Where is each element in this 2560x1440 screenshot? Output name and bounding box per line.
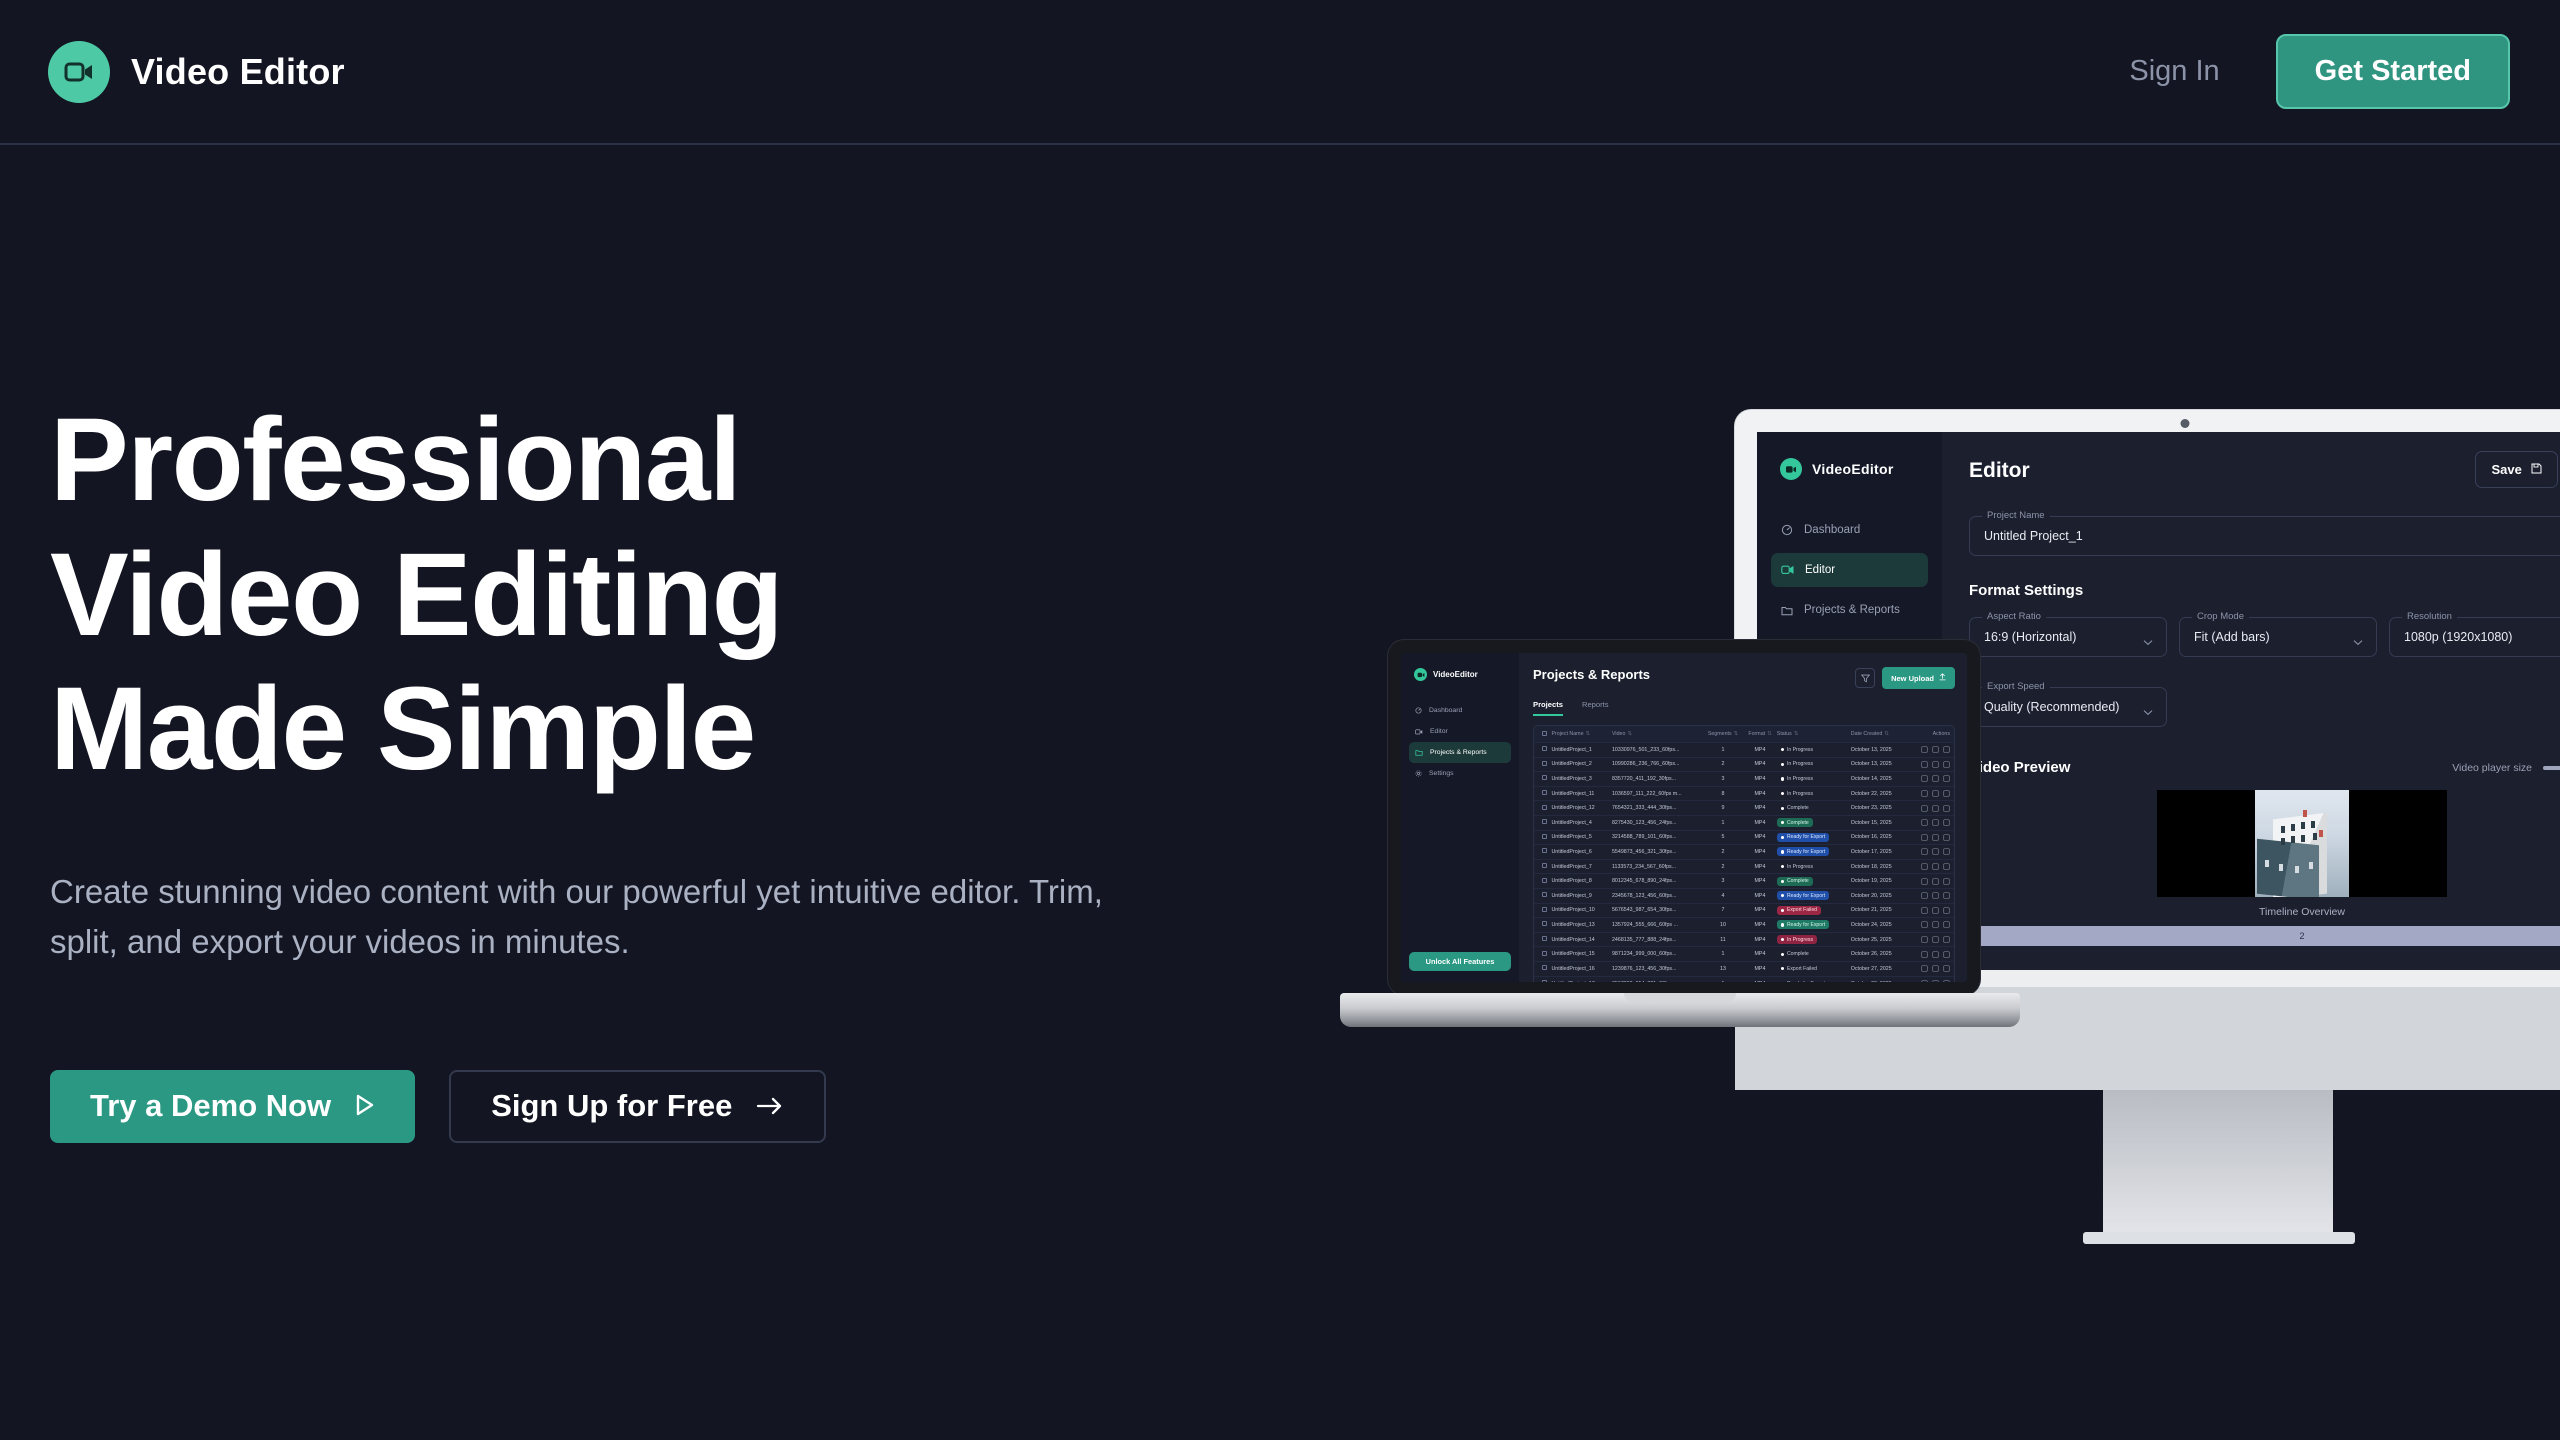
laptop-screen: VideoEditor Dashboard Editor	[1401, 653, 1967, 982]
cell-status: Ready for Export	[1777, 920, 1851, 929]
field-label: Aspect Ratio	[1982, 611, 2046, 622]
projects-logo-name: VideoEditor	[1433, 670, 1478, 679]
delete-icon[interactable]	[1943, 878, 1950, 885]
device-mockups: VideoEditor Dashboard Editor	[1340, 390, 2560, 1240]
download-icon[interactable]	[1932, 907, 1939, 914]
projects-app-logo: VideoEditor	[1409, 668, 1511, 681]
laptop-base-notch	[1624, 993, 1736, 1002]
edit-icon[interactable]	[1921, 878, 1928, 885]
cell-project-name: UntitledProject_3	[1551, 776, 1612, 782]
projects-header: Projects & Reports New Upload	[1533, 667, 1955, 689]
edit-icon[interactable]	[1921, 921, 1928, 928]
edit-icon[interactable]	[1921, 936, 1928, 943]
download-icon[interactable]	[1932, 746, 1939, 753]
cell-video: 3214588_789_101_60fps...	[1612, 834, 1703, 840]
cell-video: 10990286_236_766_60fps...	[1612, 761, 1703, 767]
cell-segments: 8	[1703, 791, 1743, 797]
column-header-format[interactable]: Format⇅	[1743, 731, 1777, 737]
laptop-mockup: VideoEditor Dashboard Editor	[1340, 640, 2020, 1060]
status-label: Complete	[1787, 951, 1809, 957]
format-settings-title: Format Settings	[1969, 582, 2560, 599]
cell-date-created: October 26, 2025	[1851, 951, 1913, 957]
cell-actions	[1913, 936, 1950, 943]
cell-project-name: UntitledProject_10	[1551, 907, 1612, 913]
download-icon[interactable]	[1932, 878, 1939, 885]
sidebar-item-projects-reports[interactable]: Projects & Reports	[1771, 593, 1928, 627]
projects-tabs: Projects Reports	[1533, 700, 1955, 716]
hero-title-line-1: Professional	[50, 394, 740, 526]
delete-icon[interactable]	[1943, 907, 1950, 914]
status-label: Ready for Export	[1787, 849, 1825, 855]
project-name-value: Untitled Project_1	[1984, 529, 2083, 543]
cell-date-created: October 28, 2025	[1851, 981, 1913, 982]
cell-segments: 2	[1703, 864, 1743, 870]
status-label: In Progress	[1787, 776, 1813, 782]
download-icon[interactable]	[1932, 980, 1939, 982]
delete-icon[interactable]	[1943, 848, 1950, 855]
cell-segments: 2	[1703, 761, 1743, 767]
cell-status: Complete	[1777, 950, 1851, 959]
edit-icon[interactable]	[1921, 980, 1928, 982]
download-icon[interactable]	[1932, 805, 1939, 812]
delete-icon[interactable]	[1943, 951, 1950, 958]
download-icon[interactable]	[1932, 834, 1939, 841]
cell-date-created: October 18, 2025	[1851, 864, 1913, 870]
cell-status: Ready for Export	[1777, 833, 1851, 842]
video-camera-icon	[1780, 458, 1802, 480]
status-label: Ready for Export	[1787, 922, 1825, 928]
row-checkbox[interactable]	[1538, 775, 1551, 782]
cell-status: In Progress	[1777, 774, 1851, 783]
cell-status: In Progress	[1777, 935, 1851, 944]
cell-project-name: UntitledProject_15	[1551, 951, 1612, 957]
cell-project-name: UntitledProject_7	[1551, 864, 1612, 870]
brand-logo[interactable]: Video Editor	[48, 41, 345, 103]
cell-actions	[1913, 980, 1950, 982]
sign-in-link[interactable]: Sign In	[2129, 55, 2219, 88]
cell-video: 1357924_555_666_60fps ...	[1612, 922, 1703, 928]
cell-segments: 3	[1703, 878, 1743, 884]
editor-main: Editor Save Export P	[1942, 432, 2560, 970]
cell-project-name: UntitledProject_13	[1551, 922, 1612, 928]
cell-video: 9871234_999_000_60fps...	[1612, 951, 1703, 957]
cell-status: In Progress	[1777, 760, 1851, 769]
status-badge: In Progress	[1777, 760, 1817, 769]
row-checkbox[interactable]	[1538, 863, 1551, 870]
table-row[interactable]: UntitledProject_127654321_333_444_30fps.…	[1534, 801, 1954, 816]
cell-actions	[1913, 892, 1950, 899]
status-label: Complete	[1787, 805, 1809, 811]
cell-actions	[1913, 790, 1950, 797]
chevron-down-icon	[2143, 703, 2153, 721]
resolution-select[interactable]: Resolution 1080p (1920x1080)	[2389, 617, 2560, 657]
row-checkbox[interactable]	[1538, 936, 1551, 943]
table-row[interactable]: UntitledProject_92345678_123_456_60fps..…	[1534, 889, 1954, 904]
cell-format: MP4	[1743, 849, 1777, 855]
cell-video: 7654321_333_444_30fps...	[1612, 805, 1703, 811]
cell-video: 5676543_987_654_30fps...	[1612, 907, 1703, 913]
hero-subtitle: Create stunning video content with our p…	[50, 867, 1140, 967]
table-row[interactable]: UntitledProject_173567890_654_321_60fps.…	[1534, 977, 1954, 983]
cell-segments: 4	[1703, 893, 1743, 899]
sort-icon: ⇅	[1586, 731, 1590, 737]
new-upload-label: New Upload	[1891, 674, 1934, 683]
delete-icon[interactable]	[1943, 863, 1950, 870]
delete-icon[interactable]	[1943, 805, 1950, 812]
cell-project-name: UntitledProject_4	[1551, 820, 1612, 826]
table-row[interactable]: UntitledProject_65549873_456_321_30fps..…	[1534, 845, 1954, 860]
video-camera-icon	[48, 41, 110, 103]
projects-sidebar: VideoEditor Dashboard Editor	[1401, 653, 1519, 982]
status-badge: Export Failed	[1777, 906, 1821, 915]
delete-icon[interactable]	[1943, 761, 1950, 768]
status-label: Ready for Export	[1787, 834, 1825, 840]
video-preview-row: Video Preview Video player size	[1969, 759, 2560, 776]
cell-date-created: October 15, 2025	[1851, 820, 1913, 826]
delete-icon[interactable]	[1943, 980, 1950, 982]
cell-video: 2468135_777_888_24fps...	[1612, 937, 1703, 943]
delete-icon[interactable]	[1943, 775, 1950, 782]
page-title: Professional Video Editing Made Simple	[50, 393, 1200, 797]
sidebar-item-projects-reports[interactable]: Projects & Reports	[1409, 742, 1511, 763]
cell-format: MP4	[1743, 922, 1777, 928]
row-checkbox[interactable]	[1538, 980, 1551, 982]
table-row[interactable]: UntitledProject_105676543_987_654_30fps.…	[1534, 904, 1954, 919]
cell-actions	[1913, 921, 1950, 928]
chevron-down-icon	[2353, 633, 2363, 651]
table-row[interactable]: UntitledProject_110330976_501_233_60fps.…	[1534, 743, 1954, 758]
cell-format: MP4	[1743, 893, 1777, 899]
projects-header-actions: New Upload	[1855, 667, 1955, 689]
cell-video: 3567890_654_321_60fps...	[1612, 981, 1703, 982]
status-badge: Complete	[1777, 877, 1813, 886]
timeline-caption: Timeline Overview	[1969, 906, 2560, 918]
status-badge: In Progress	[1777, 862, 1817, 871]
status-badge: In Progress	[1777, 789, 1817, 798]
cell-actions	[1913, 863, 1950, 870]
cell-project-name: UntitledProject_1	[1551, 747, 1612, 753]
get-started-button[interactable]: Get Started	[2276, 34, 2510, 109]
table-row[interactable]: UntitledProject_131357924_555_666_60fps …	[1534, 918, 1954, 933]
cell-format: MP4	[1743, 966, 1777, 972]
download-icon[interactable]	[1932, 790, 1939, 797]
cell-format: MP4	[1743, 834, 1777, 840]
edit-icon[interactable]	[1921, 834, 1928, 841]
timeline-value: 2	[2299, 931, 2304, 941]
download-icon[interactable]	[1932, 951, 1939, 958]
cell-status: Export Failed	[1777, 906, 1851, 915]
sidebar-label: Settings	[1429, 770, 1454, 777]
status-label: In Progress	[1787, 761, 1813, 767]
hero-title-line-3: Made Simple	[50, 663, 755, 795]
edit-icon[interactable]	[1921, 805, 1928, 812]
sidebar-item-dashboard[interactable]: Dashboard	[1771, 513, 1928, 547]
cell-project-name: UntitledProject_14	[1551, 937, 1612, 943]
sidebar-item-settings[interactable]: Settings	[1409, 763, 1511, 784]
editor-app-logo: VideoEditor	[1771, 458, 1928, 480]
sidebar-item-editor[interactable]: Editor	[1771, 553, 1928, 587]
edit-icon[interactable]	[1921, 790, 1928, 797]
new-upload-button[interactable]: New Upload	[1882, 667, 1955, 689]
cell-format: MP4	[1743, 747, 1777, 753]
status-label: In Progress	[1787, 791, 1813, 797]
row-checkbox[interactable]	[1538, 951, 1551, 958]
cell-date-created: October 27, 2025	[1851, 966, 1913, 972]
cell-date-created: October 17, 2025	[1851, 849, 1913, 855]
cell-video: 8012345_678_890_24fps...	[1612, 878, 1703, 884]
row-checkbox[interactable]	[1538, 921, 1551, 928]
table-row[interactable]: UntitledProject_111036597_111_222_60fps …	[1534, 787, 1954, 802]
cell-actions	[1913, 965, 1950, 972]
edit-icon[interactable]	[1921, 848, 1928, 855]
status-badge: Export Failed	[1777, 964, 1821, 973]
sidebar-item-dashboard[interactable]: Dashboard	[1409, 700, 1511, 721]
funnel-icon[interactable]	[1855, 668, 1875, 688]
player-size-label: Video player size	[2452, 762, 2532, 774]
download-icon[interactable]	[1932, 819, 1939, 826]
delete-icon[interactable]	[1943, 819, 1950, 826]
table-row[interactable]: UntitledProject_142468135_777_888_24fps.…	[1534, 933, 1954, 948]
cell-video: 1036597_111_222_60fps m...	[1612, 791, 1703, 797]
cell-format: MP4	[1743, 805, 1777, 811]
cell-date-created: October 20, 2025	[1851, 893, 1913, 899]
delete-icon[interactable]	[1943, 746, 1950, 753]
sign-up-label: Sign Up for Free	[491, 1088, 732, 1124]
table-row[interactable]: UntitledProject_38357720_411_192_30fps..…	[1534, 772, 1954, 787]
status-badge: Ready for Export	[1777, 891, 1829, 900]
column-header-segments[interactable]: Segments⇅	[1703, 731, 1743, 737]
cell-project-name: UntitledProject_12	[1551, 805, 1612, 811]
row-checkbox[interactable]	[1538, 805, 1551, 812]
cell-status: Export Failed	[1777, 964, 1851, 973]
cell-segments: 9	[1703, 805, 1743, 811]
cell-format: MP4	[1743, 951, 1777, 957]
cell-segments: 13	[1703, 966, 1743, 972]
status-label: Complete	[1787, 878, 1809, 884]
cell-video: 5549873_456_321_30fps...	[1612, 849, 1703, 855]
tab-reports[interactable]: Reports	[1582, 700, 1609, 716]
chevron-down-icon	[2143, 633, 2153, 651]
status-badge: In Progress	[1777, 745, 1817, 754]
delete-icon[interactable]	[1943, 790, 1950, 797]
cell-video: 8357720_411_192_30fps...	[1612, 776, 1703, 782]
sidebar-label: Editor	[1430, 728, 1448, 735]
edit-icon[interactable]	[1921, 761, 1928, 768]
table-row[interactable]: UntitledProject_88012345_678_890_24fps..…	[1534, 874, 1954, 889]
delete-icon[interactable]	[1943, 892, 1950, 899]
delete-icon[interactable]	[1943, 834, 1950, 841]
tab-projects[interactable]: Projects	[1533, 700, 1563, 716]
status-label: Export Failed	[1787, 966, 1817, 972]
edit-icon[interactable]	[1921, 907, 1928, 914]
cell-segments: 7	[1703, 907, 1743, 913]
cell-format: MP4	[1743, 878, 1777, 884]
row-checkbox[interactable]	[1538, 907, 1551, 914]
sidebar-label: Dashboard	[1429, 707, 1462, 714]
column-header-actions: Actions	[1913, 731, 1950, 737]
cell-project-name: UntitledProject_11	[1551, 791, 1612, 797]
sidebar-label: Editor	[1805, 564, 1835, 576]
download-icon[interactable]	[1932, 936, 1939, 943]
edit-icon[interactable]	[1921, 965, 1928, 972]
download-icon[interactable]	[1932, 775, 1939, 782]
video-camera-icon	[1414, 668, 1427, 681]
row-checkbox[interactable]	[1538, 790, 1551, 797]
cell-project-name: UntitledProject_2	[1551, 761, 1612, 767]
save-button[interactable]: Save	[2475, 451, 2557, 488]
table-row[interactable]: UntitledProject_71133573_234_567_60fps..…	[1534, 860, 1954, 875]
status-label: In Progress	[1787, 747, 1813, 753]
cell-video: 8275430_123_456_24fps...	[1612, 820, 1703, 826]
cell-segments: 1	[1703, 820, 1743, 826]
editor-page-title: Editor	[1969, 459, 2030, 483]
status-badge: Complete	[1777, 950, 1813, 959]
cell-segments: 2	[1703, 849, 1743, 855]
cell-date-created: October 19, 2025	[1851, 878, 1913, 884]
select-all-checkbox[interactable]	[1538, 731, 1551, 738]
row-checkbox[interactable]	[1538, 892, 1551, 899]
cell-date-created: October 21, 2025	[1851, 907, 1913, 913]
cell-project-name: UntitledProject_6	[1551, 849, 1612, 855]
sort-icon: ⇅	[1767, 731, 1771, 737]
edit-icon[interactable]	[1921, 775, 1928, 782]
delete-icon[interactable]	[1943, 936, 1950, 943]
edit-icon[interactable]	[1921, 892, 1928, 899]
cell-segments: 1	[1703, 981, 1743, 982]
cell-segments: 1	[1703, 951, 1743, 957]
cell-format: MP4	[1743, 820, 1777, 826]
player-size-slider[interactable]	[2543, 766, 2560, 770]
cell-actions	[1913, 834, 1950, 841]
cell-format: MP4	[1743, 791, 1777, 797]
sidebar-label: Projects & Reports	[1430, 749, 1487, 756]
row-checkbox[interactable]	[1538, 965, 1551, 972]
cell-status: In Progress	[1777, 862, 1851, 871]
timeline-bar[interactable]: 2	[1969, 926, 2560, 946]
status-label: Ready for Export	[1787, 981, 1825, 982]
column-header-project-name[interactable]: Project Name⇅	[1551, 731, 1612, 737]
cell-segments: 11	[1703, 937, 1743, 943]
video-player-size-control: Video player size	[2452, 762, 2560, 774]
download-icon[interactable]	[1932, 892, 1939, 899]
cell-date-created: October 24, 2025	[1851, 922, 1913, 928]
row-checkbox[interactable]	[1538, 834, 1551, 841]
table-row[interactable]: UntitledProject_53214588_789_101_60fps..…	[1534, 831, 1954, 846]
download-icon[interactable]	[1932, 848, 1939, 855]
delete-icon[interactable]	[1943, 921, 1950, 928]
column-header-video[interactable]: Video⇅	[1612, 731, 1703, 737]
sort-icon: ⇅	[1794, 731, 1798, 737]
projects-app: VideoEditor Dashboard Editor	[1401, 653, 1967, 982]
edit-icon[interactable]	[1921, 951, 1928, 958]
status-badge: In Progress	[1777, 935, 1817, 944]
video-preview-frame	[2255, 790, 2349, 897]
status-badge: Ready for Export	[1777, 920, 1829, 929]
table-row[interactable]: UntitledProject_210990286_236_766_60fps.…	[1534, 758, 1954, 773]
cell-status: Ready for Export	[1777, 847, 1851, 856]
cell-format: MP4	[1743, 864, 1777, 870]
edit-icon[interactable]	[1921, 863, 1928, 870]
status-label: Complete	[1787, 820, 1809, 826]
field-value: 1080p (1920x1080)	[2404, 630, 2512, 644]
cell-actions	[1913, 746, 1950, 753]
unlock-all-features-button[interactable]: Unlock All Features	[1409, 952, 1511, 971]
cell-date-created: October 25, 2025	[1851, 937, 1913, 943]
cell-actions	[1913, 878, 1950, 885]
sort-icon: ⇅	[1734, 731, 1738, 737]
cell-video: 1239876_123_456_30fps...	[1612, 966, 1703, 972]
cell-segments: 3	[1703, 776, 1743, 782]
laptop-notch	[1639, 640, 1729, 653]
table-row[interactable]: UntitledProject_159871234_999_000_60fps.…	[1534, 947, 1954, 962]
cell-actions	[1913, 848, 1950, 855]
project-name-field[interactable]: Project Name Untitled Project_1	[1969, 516, 2560, 556]
crop-mode-select[interactable]: Crop Mode Fit (Add bars)	[2179, 617, 2377, 657]
table-row[interactable]: UntitledProject_48275430_123_456_24fps..…	[1534, 816, 1954, 831]
edit-icon[interactable]	[1921, 746, 1928, 753]
video-preview-player[interactable]	[2157, 790, 2447, 897]
status-badge: Ready for Export	[1777, 979, 1829, 982]
download-icon[interactable]	[1932, 863, 1939, 870]
status-label: Ready for Export	[1787, 893, 1825, 899]
field-value: Fit (Add bars)	[2194, 630, 2270, 644]
cell-segments: 10	[1703, 922, 1743, 928]
sidebar-label: Projects & Reports	[1804, 604, 1900, 616]
sort-icon: ⇅	[1884, 731, 1888, 737]
cell-status: Ready for Export	[1777, 891, 1851, 900]
cell-project-name: UntitledProject_8	[1551, 878, 1612, 884]
row-checkbox[interactable]	[1538, 819, 1551, 826]
monitor-foot	[2083, 1232, 2355, 1244]
download-icon[interactable]	[1932, 965, 1939, 972]
cell-actions	[1913, 761, 1950, 768]
cell-format: MP4	[1743, 761, 1777, 767]
cell-project-name: UntitledProject_9	[1551, 893, 1612, 899]
table-body: UntitledProject_110330976_501_233_60fps.…	[1534, 743, 1954, 982]
sidebar-item-editor[interactable]: Editor	[1409, 721, 1511, 742]
column-header-date-created[interactable]: Date Created⇅	[1851, 731, 1913, 737]
cell-date-created: October 13, 2025	[1851, 761, 1913, 767]
row-checkbox[interactable]	[1538, 878, 1551, 885]
cell-date-created: October 13, 2025	[1851, 747, 1913, 753]
table-row[interactable]: UntitledProject_161239876_123_456_30fps.…	[1534, 962, 1954, 977]
projects-main: Projects & Reports New Upload	[1519, 653, 1967, 982]
row-checkbox[interactable]	[1538, 761, 1551, 768]
row-checkbox[interactable]	[1538, 746, 1551, 753]
status-badge: Complete	[1777, 804, 1813, 813]
delete-icon[interactable]	[1943, 965, 1950, 972]
sign-up-free-button[interactable]: Sign Up for Free	[449, 1070, 826, 1143]
download-icon[interactable]	[1932, 761, 1939, 768]
try-demo-button[interactable]: Try a Demo Now	[50, 1070, 415, 1143]
save-disk-icon	[2531, 462, 2542, 477]
cell-status: In Progress	[1777, 789, 1851, 798]
cell-status: Complete	[1777, 818, 1851, 827]
column-header-status[interactable]: Status⇅	[1777, 731, 1851, 737]
monitor-stand	[2103, 1090, 2333, 1240]
edit-icon[interactable]	[1921, 819, 1928, 826]
row-checkbox[interactable]	[1538, 848, 1551, 855]
download-icon[interactable]	[1932, 921, 1939, 928]
cell-format: MP4	[1743, 776, 1777, 782]
cell-project-name: UntitledProject_16	[1551, 966, 1612, 972]
status-label: In Progress	[1787, 864, 1813, 870]
table-header-row: Project Name⇅ Video⇅ Segments⇅ Format⇅ S…	[1534, 726, 1954, 743]
header-actions: Sign In Get Started	[2129, 34, 2510, 109]
editor-logo-name: VideoEditor	[1812, 461, 1894, 477]
camera-dot-icon	[2181, 419, 2190, 428]
cell-video: 2345678_123_456_60fps...	[1612, 893, 1703, 899]
